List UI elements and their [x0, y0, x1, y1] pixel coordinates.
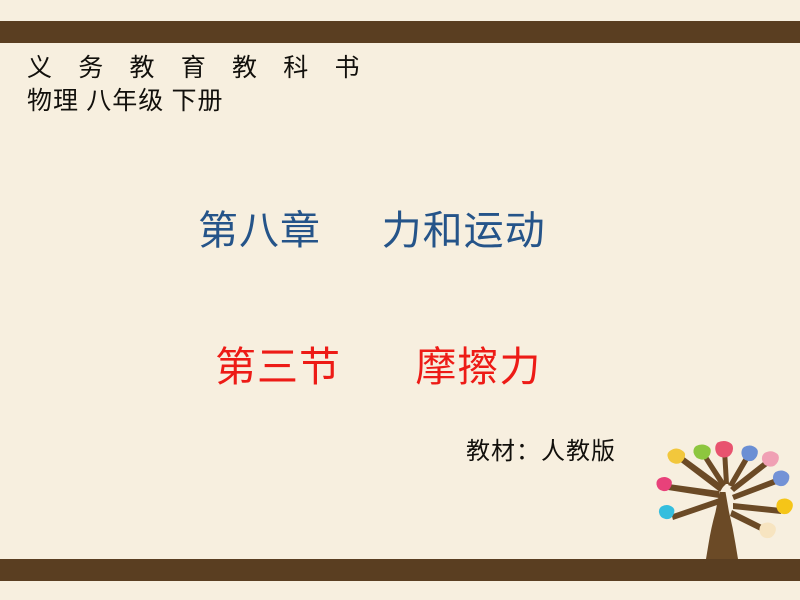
tree-leaf-cream	[759, 523, 775, 539]
tree-illustration	[645, 440, 800, 565]
tree-leaf-blue	[741, 446, 757, 462]
chapter-title: 第八章 力和运动	[198, 198, 546, 256]
tree-branch-left-outer	[672, 498, 721, 520]
tree-leaf-periwinkle	[773, 471, 789, 487]
tree-leaf-cyan	[659, 505, 674, 519]
section-title: 第三节 摩擦力	[215, 333, 541, 393]
textbook-series-line: 义 务 教 育 教 科 书	[27, 54, 370, 84]
tree-branch-left-mid	[668, 484, 719, 498]
bottom-decorative-bar	[0, 559, 800, 581]
tree-leaf-gold	[776, 499, 792, 515]
tree-leaf-pink	[762, 451, 779, 466]
top-decorative-bar	[0, 21, 800, 43]
tree-branches-group	[668, 450, 781, 565]
textbook-header: 义 务 教 育 教 科 书 物理 八年级 下册	[27, 54, 370, 116]
tree-branch-right-lower	[733, 503, 781, 514]
tree-leaf-rose	[715, 441, 733, 458]
slide-canvas: 义 务 教 育 教 科 书 物理 八年级 下册 第八章 力和运动 第三节 摩擦力…	[0, 0, 800, 600]
textbook-subject-line: 物理 八年级 下册	[27, 87, 370, 117]
publisher-credit: 教材：人教版	[466, 431, 616, 466]
